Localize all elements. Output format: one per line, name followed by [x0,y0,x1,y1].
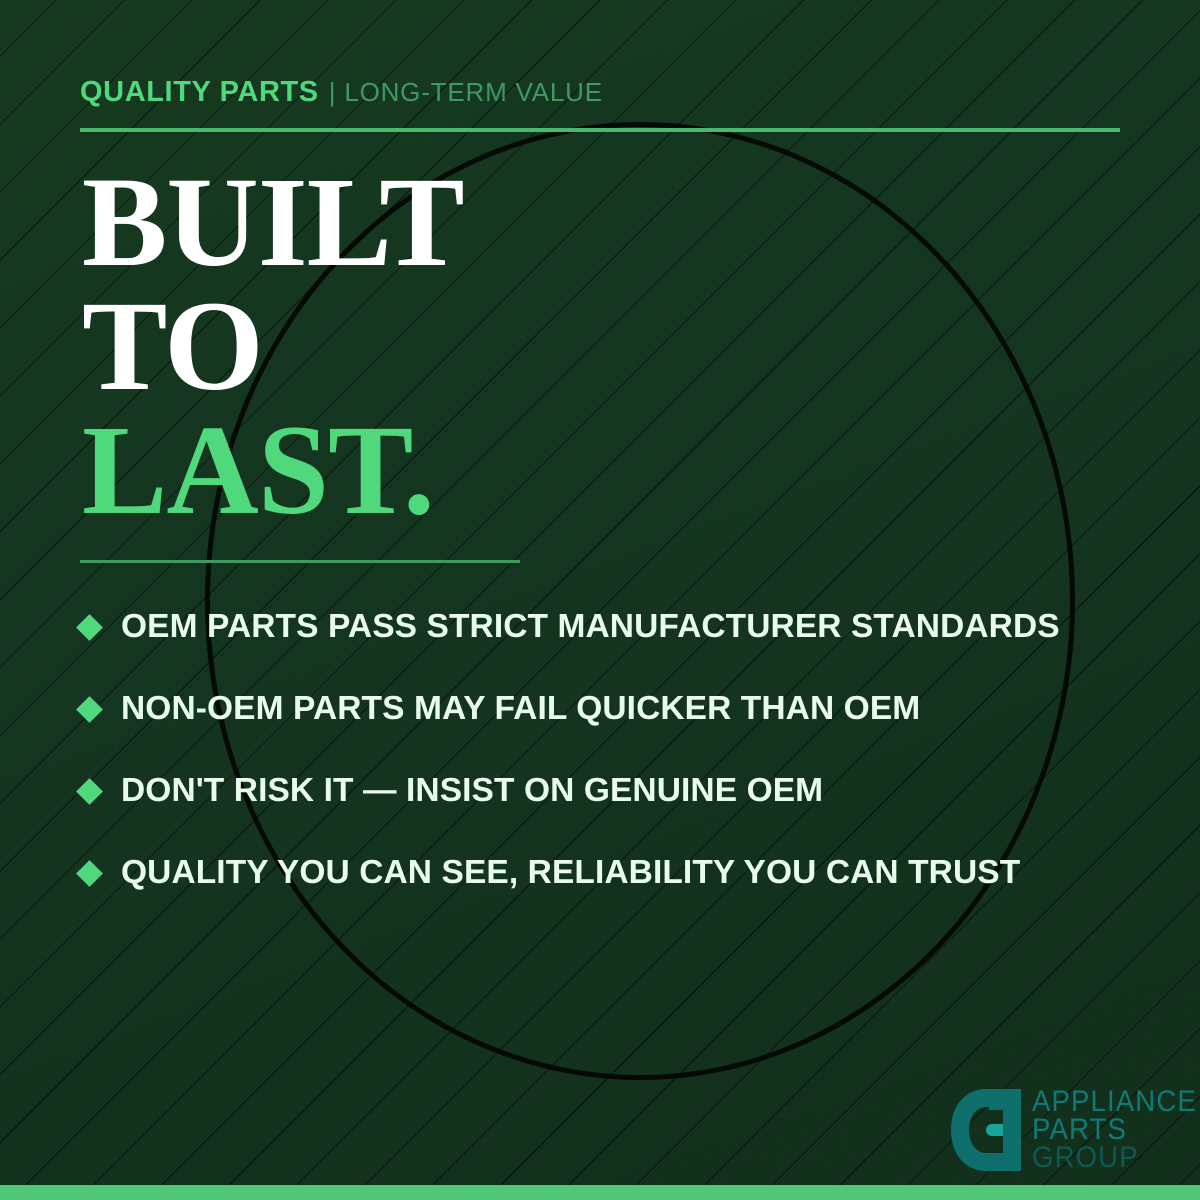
brand-logo-wordmark: APPLIANCE PARTS GROUP [1032,1086,1200,1172]
poster-content: QUALITY PARTS| LONG-TERM VALUE BUILT TO … [0,0,1200,1200]
promo-poster: QUALITY PARTS| LONG-TERM VALUE BUILT TO … [0,0,1200,1200]
eyebrow-kicker: QUALITY PARTS [80,76,319,108]
headline-divider [80,560,520,563]
list-item-label: NON-OEM PARTS MAY FAIL QUICKER THAN OEM [121,690,920,728]
brand-word-parts: PARTS [1032,1116,1197,1144]
stylized-g-icon [948,1086,1024,1174]
list-item-label: OEM PARTS PASS STRICT MANUFACTURER STAND… [121,608,1060,646]
headline-line-2: TO [82,284,464,408]
list-item: QUALITY YOU CAN SEE, RELIABILITY YOU CAN… [80,832,1160,914]
list-item: NON-OEM PARTS MAY FAIL QUICKER THAN OEM [80,668,1160,750]
list-item: OEM PARTS PASS STRICT MANUFACTURER STAND… [80,586,1160,668]
diamond-bullet-icon [76,696,103,723]
headline-line-1: BUILT [82,160,464,284]
page-title: BUILT TO LAST. [82,160,464,532]
header-divider [80,128,1120,132]
eyebrow-subtitle: | LONG-TERM VALUE [329,77,603,107]
list-item: DON'T RISK IT — INSIST ON GENUINE OEM [80,750,1160,832]
diamond-bullet-icon [76,860,103,887]
brand-word-appliance: APPLIANCE [1032,1088,1197,1116]
diamond-bullet-icon [76,778,103,805]
diamond-bullet-icon [76,614,103,641]
eyebrow: QUALITY PARTS| LONG-TERM VALUE [80,76,603,109]
list-item-label: QUALITY YOU CAN SEE, RELIABILITY YOU CAN… [121,854,1020,892]
list-item-label: DON'T RISK IT — INSIST ON GENUINE OEM [121,772,823,810]
bottom-accent-bar [0,1185,1200,1200]
brand-word-group: GROUP [1032,1144,1197,1172]
headline-line-3: LAST. [82,408,464,532]
brand-logo: APPLIANCE PARTS GROUP [948,1086,1200,1174]
benefit-list: OEM PARTS PASS STRICT MANUFACTURER STAND… [80,586,1160,914]
